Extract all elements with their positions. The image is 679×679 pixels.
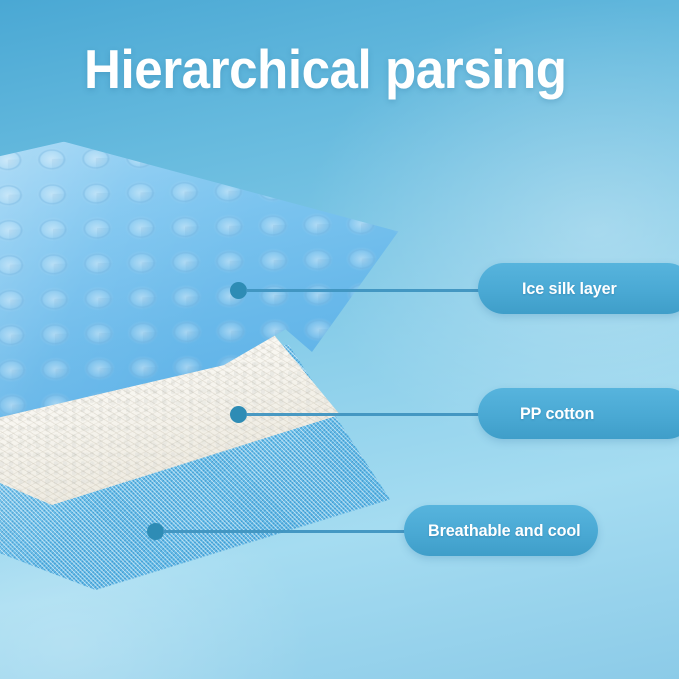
callout-label-breathable: Breathable and cool (428, 521, 581, 541)
callout-pill-breathable[interactable]: Breathable and cool (404, 505, 598, 556)
callout-pill-pp-cotton[interactable]: PP cotton (478, 388, 679, 439)
callout-line-breathable (163, 530, 411, 533)
callout-line-ice-silk (246, 289, 491, 292)
callout-line-pp-cotton (246, 413, 491, 416)
infographic-canvas: Hierarchical parsing Ice silk layer PP c… (0, 0, 679, 679)
callout-dot-ice-silk (230, 282, 247, 299)
page-title: Hierarchical parsing (84, 42, 567, 97)
callout-dot-pp-cotton (230, 406, 247, 423)
callout-label-ice-silk: Ice silk layer (522, 279, 617, 299)
callout-label-pp-cotton: PP cotton (520, 404, 594, 424)
callout-pill-ice-silk[interactable]: Ice silk layer (478, 263, 679, 314)
callout-dot-breathable (147, 523, 164, 540)
